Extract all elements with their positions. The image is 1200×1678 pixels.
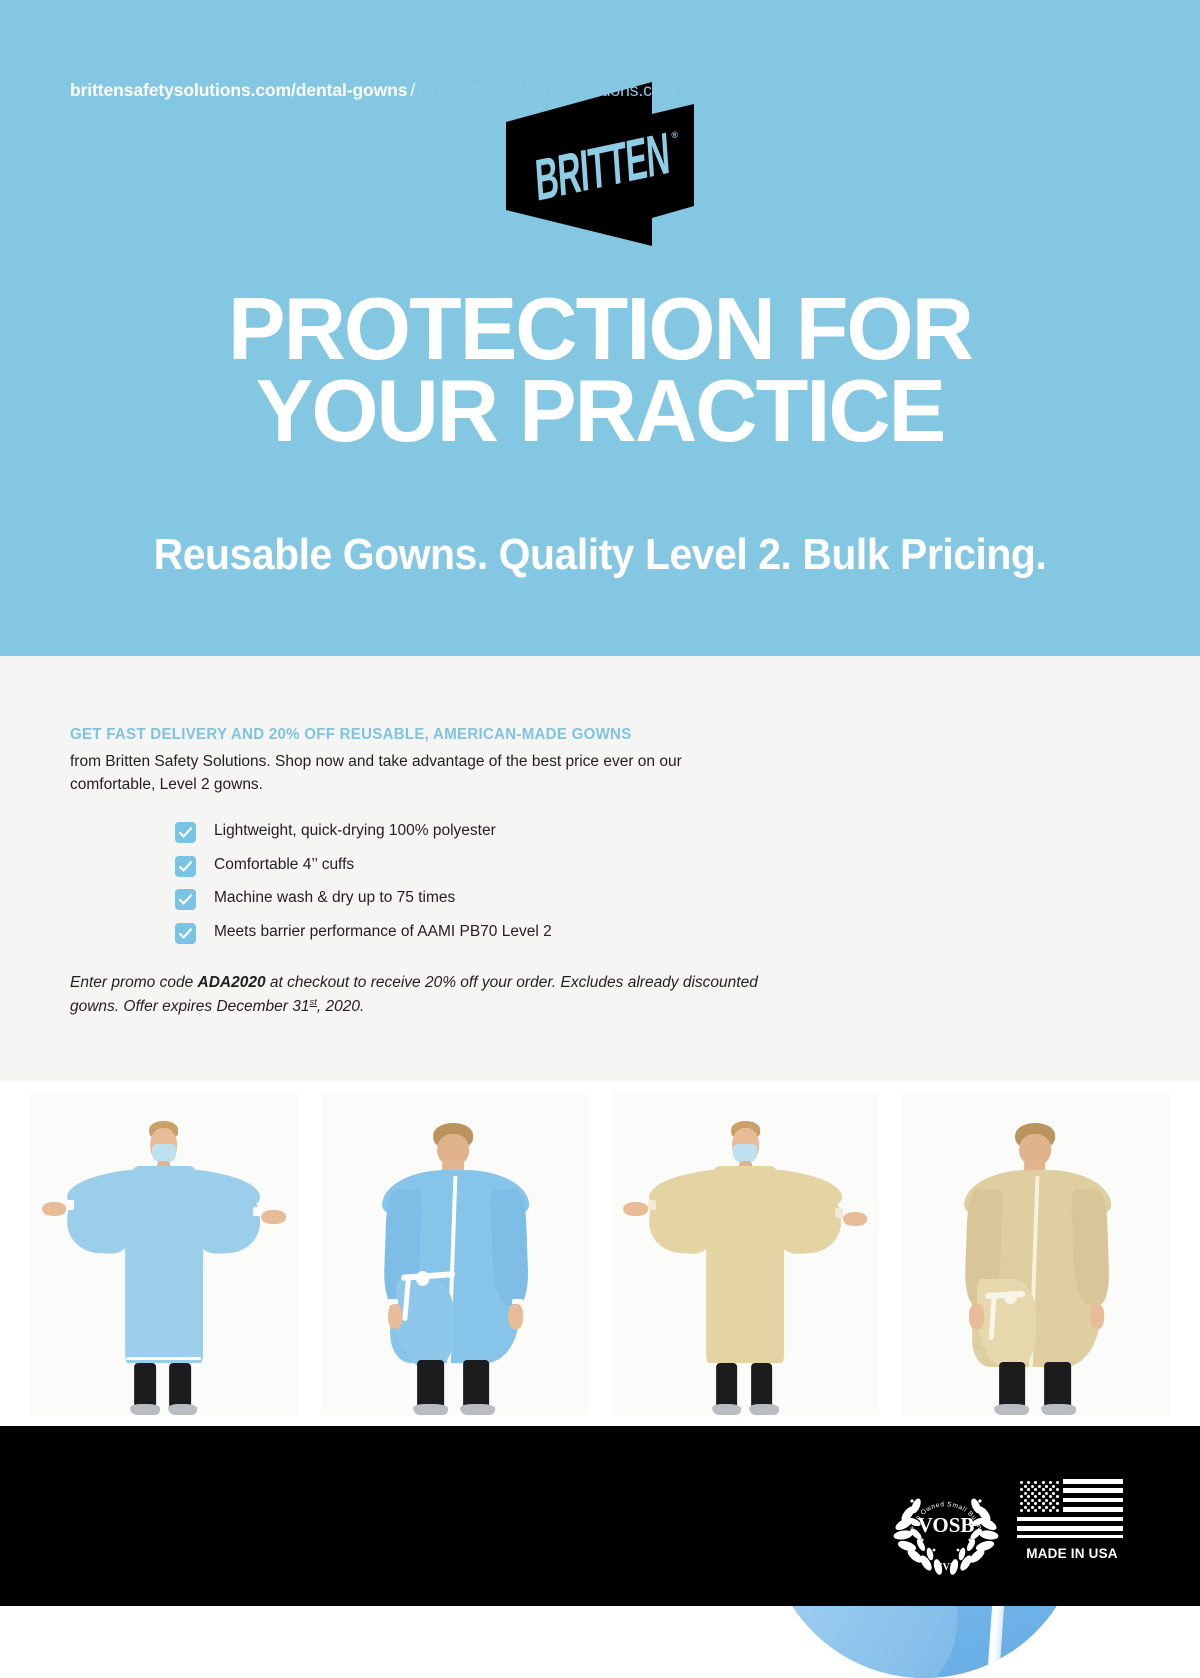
list-item: Lightweight, quick-drying 100% polyester: [175, 821, 795, 842]
hero-subheadline: Reusable Gowns. Quality Level 2. Bulk Pr…: [42, 530, 1158, 580]
feature-label: Meets barrier performance of AAMI PB70 L…: [214, 922, 552, 942]
website-link[interactable]: brittensafetysolutions.com/dental-gowns: [70, 80, 407, 100]
gallery-photo-1: [30, 1092, 298, 1415]
checkbox-checked-icon: [175, 889, 196, 910]
brand-logo: BRITTEN ®: [0, 74, 1200, 254]
footer-separator: /: [407, 80, 418, 100]
figure-tan-back: [902, 1092, 1170, 1415]
feature-list: Lightweight, quick-drying 100% polyester…: [175, 821, 795, 955]
flyer-page: BRITTEN ® PROTECTION FOR YOUR PRACTICE R…: [0, 0, 1200, 1606]
britten-logo-mark: BRITTEN ®: [502, 78, 698, 250]
list-item: Comfortable 4’’ cuffs: [175, 855, 795, 876]
checkbox-checked-icon: [175, 856, 196, 877]
promo-before: Enter promo code: [70, 974, 198, 991]
us-flag-icon: [1016, 1478, 1124, 1539]
gallery-photo-3: [612, 1092, 880, 1415]
gallery-photo-4: [902, 1092, 1170, 1415]
vosb-sub-text: CVE: [935, 1562, 956, 1573]
feature-label: Machine wash & dry up to 75 times: [214, 888, 455, 908]
vosb-seal-icon: VOSB Veteran Owned Small Business CVE: [893, 1472, 999, 1578]
vosb-main-text: VOSB: [918, 1513, 975, 1537]
registered-trademark-icon: ®: [671, 130, 678, 140]
email-link[interactable]: sales@brittensafetysolutions.com: [418, 80, 676, 100]
offer-copy: GET FAST DELIVERY AND 20% OFF REUSABLE, …: [70, 726, 770, 797]
checkbox-checked-icon: [175, 822, 196, 843]
logo-banner-shape: [502, 78, 698, 250]
hero-headline-line2: YOUR PRACTICE: [12, 370, 1188, 452]
checkbox-checked-icon: [175, 923, 196, 944]
flag-canton: [1017, 1479, 1063, 1512]
promo-code: ADA2020: [198, 974, 266, 991]
offer-lede: from Britten Safety Solutions. Shop now …: [70, 750, 760, 797]
feature-label: Lightweight, quick-drying 100% polyester: [214, 821, 496, 841]
promo-tail: , 2020.: [317, 998, 364, 1015]
list-item: Meets barrier performance of AAMI PB70 L…: [175, 922, 795, 943]
footer-contact: brittensafetysolutions.com/dental-gowns/…: [70, 80, 676, 101]
made-in-usa-badge: MADE IN USA: [1016, 1478, 1128, 1578]
offer-section: GET FAST DELIVERY AND 20% OFF REUSABLE, …: [0, 656, 1200, 1081]
made-in-usa-label: MADE IN USA: [1016, 1546, 1128, 1561]
feature-label: Comfortable 4’’ cuffs: [214, 855, 354, 875]
gallery-photo-2: [321, 1092, 589, 1415]
list-item: Machine wash & dry up to 75 times: [175, 888, 795, 909]
figure-blue-front: [30, 1092, 298, 1415]
hero-headline: PROTECTION FOR YOUR PRACTICE: [12, 288, 1188, 452]
figure-blue-back: [321, 1092, 589, 1415]
promo-disclaimer: Enter promo code ADA2020 at checkout to …: [70, 971, 760, 1019]
promo-ordinal: st: [310, 997, 317, 1008]
product-gallery: [0, 1081, 1200, 1426]
figure-tan-front: [612, 1092, 880, 1415]
offer-eyebrow: GET FAST DELIVERY AND 20% OFF REUSABLE, …: [70, 726, 749, 744]
